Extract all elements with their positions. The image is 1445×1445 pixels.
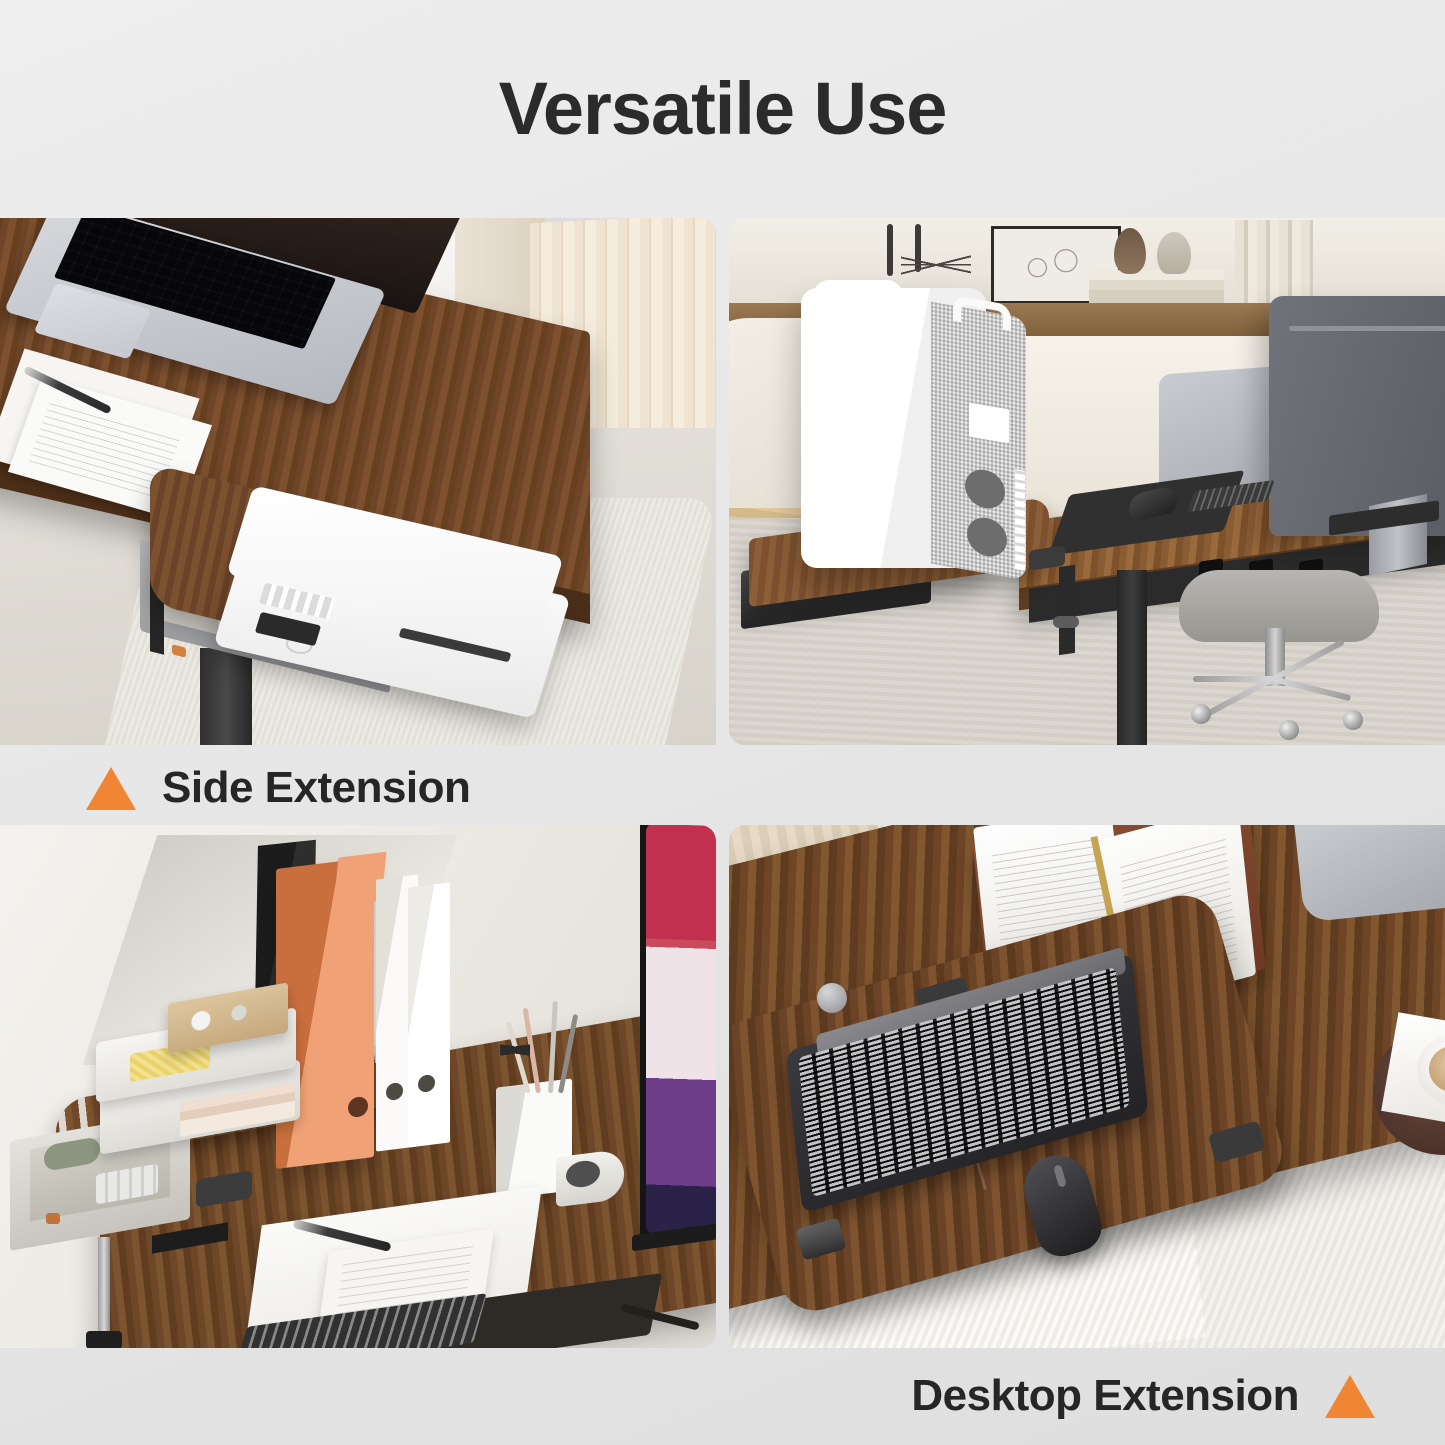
- caption-side-extension: Side Extension: [86, 748, 470, 828]
- scissors: [500, 1007, 530, 1093]
- vase: [1157, 232, 1191, 274]
- chair-base: [1191, 670, 1361, 732]
- chair-castor: [1343, 710, 1363, 730]
- support-foot: [86, 1331, 122, 1348]
- page-title: Versatile Use: [499, 72, 947, 146]
- book-stack: [1089, 270, 1224, 304]
- decor-rod: [887, 224, 893, 276]
- desk-leg: [200, 648, 252, 745]
- keyboard-dial: [817, 983, 847, 1013]
- triangle-up-icon: [86, 767, 136, 810]
- panel-top-right: [729, 218, 1445, 745]
- panel-top-left: [0, 218, 716, 745]
- vase: [1114, 228, 1146, 274]
- caption-desktop-extension: Desktop Extension: [911, 1356, 1375, 1436]
- clamp: [1059, 565, 1075, 655]
- chair-spoke: [1201, 676, 1274, 719]
- support-post: [98, 1237, 110, 1337]
- tower-handle: [813, 280, 903, 310]
- clamp-knob[interactable]: [1053, 616, 1079, 628]
- pen: [548, 1001, 558, 1093]
- scene-side-extension-tower: [729, 218, 1445, 745]
- tower-ports: [1015, 469, 1025, 571]
- panel-bottom-left: [0, 825, 716, 1348]
- monitor-screen: [646, 825, 716, 1236]
- scene-side-extension-printer: [0, 218, 716, 745]
- panel-bottom-right: [729, 825, 1445, 1348]
- chair-castor: [1279, 720, 1299, 740]
- book-row: [1235, 220, 1313, 304]
- tower-label: [969, 402, 1009, 443]
- triangle-up-icon: [1325, 1375, 1375, 1418]
- magazine-file-white: [408, 882, 450, 1147]
- chair-castor: [1191, 704, 1211, 724]
- pen: [558, 1014, 578, 1093]
- infographic-page: Versatile Use: [0, 0, 1445, 1445]
- monitor-vent: [1289, 326, 1445, 331]
- picture-artwork: [1007, 238, 1102, 292]
- caption-label: Side Extension: [162, 763, 470, 813]
- scene-desktop-extension-keyboard: [729, 825, 1445, 1348]
- desk-leg: [1117, 570, 1147, 745]
- caption-label: Desktop Extension: [911, 1371, 1299, 1421]
- chair-spoke: [1272, 676, 1351, 701]
- title-bar: Versatile Use: [0, 0, 1445, 218]
- scene-side-extension-organizer: [0, 825, 716, 1348]
- laptop: [1294, 825, 1445, 923]
- drawer-handle: [46, 1213, 60, 1224]
